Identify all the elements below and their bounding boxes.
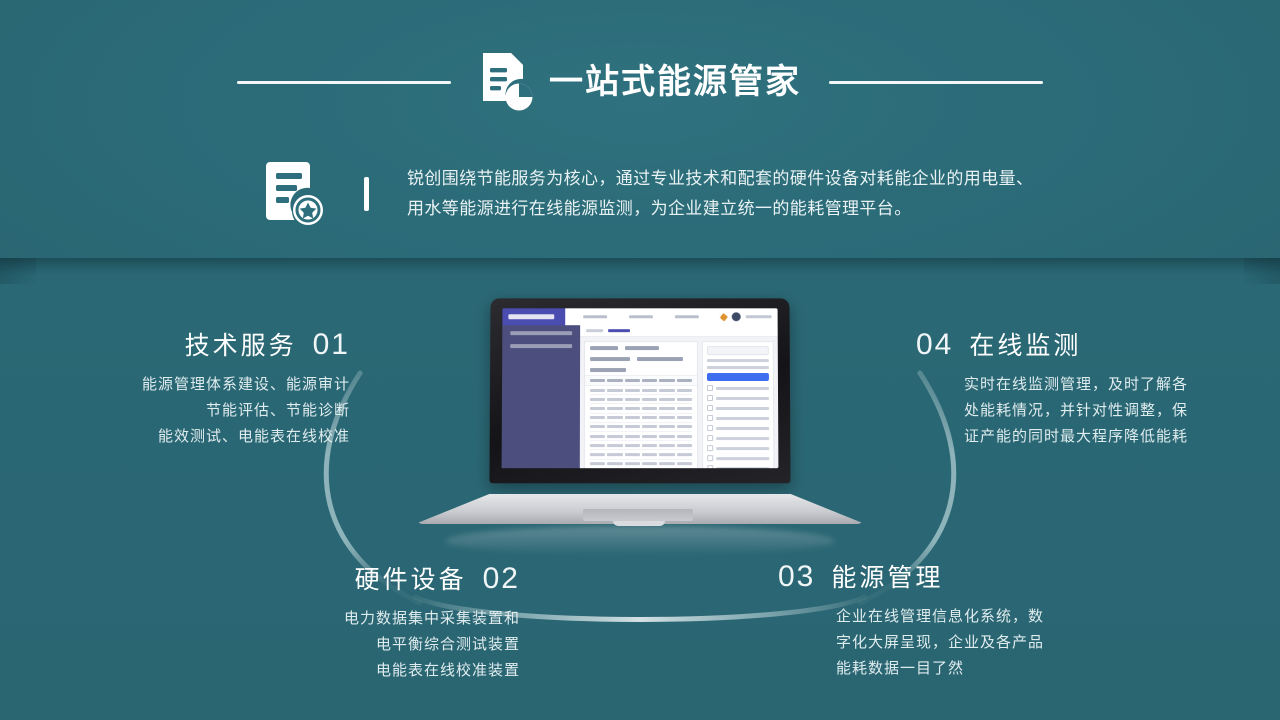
table-row[interactable] [590, 441, 692, 450]
feature-02-line-2: 电平衡综合测试装置 [180, 632, 520, 658]
feature-02-line-1: 电力数据集中采集装置和 [180, 606, 520, 632]
dashboard-username [746, 315, 772, 318]
feature-04-number: 04 [916, 328, 953, 362]
breadcrumb [580, 325, 778, 337]
feature-03-line-3: 能耗数据一目了然 [836, 656, 1118, 682]
table-column-header [642, 379, 657, 382]
slide-root: 一站式能源管家 锐创围绕节能服务为核心，通过专业技术和配套的硬件设备对耗能企业的… [0, 0, 1280, 720]
table-column-header [659, 379, 674, 382]
checkbox-item[interactable] [707, 465, 769, 468]
avatar[interactable] [732, 312, 741, 321]
dashboard-content [580, 337, 779, 468]
intro-line-2: 用水等能源进行在线能源监测，为企业建立统一的能耗管理平台。 [407, 194, 1033, 224]
dashboard-logo [502, 308, 565, 325]
table-header-row [585, 376, 697, 386]
panel-submit-button[interactable] [707, 373, 769, 381]
feature-01-heading: 技术服务 01 [10, 326, 350, 362]
checkbox-item[interactable] [707, 435, 769, 441]
feature-03-line-1: 企业在线管理信息化系统，数 [836, 604, 1118, 630]
feature-block-04: 04 在线监测 实时在线监测管理，及时了解各 处能耗情况，并针对性调整，保 证产… [916, 326, 1266, 449]
filter-field[interactable] [625, 346, 659, 350]
panel-field[interactable] [707, 359, 769, 362]
feature-01-lines: 能源管理体系建设、能源审计 节能评估、节能诊断 能效测试、电能表在线校准 [10, 372, 350, 449]
sidebar-item[interactable] [510, 344, 572, 348]
checkbox-item[interactable] [707, 455, 769, 461]
checkbox-item[interactable] [707, 395, 769, 401]
laptop-mockup [415, 298, 865, 538]
search-input[interactable] [707, 346, 769, 355]
intro-separator [364, 177, 369, 211]
feature-01-line-1: 能源管理体系建设、能源审计 [10, 372, 350, 398]
breadcrumb-item[interactable] [586, 329, 603, 332]
edit-icon[interactable] [720, 313, 728, 321]
divider-line-left-icon [237, 81, 451, 84]
document-chart-icon [479, 51, 533, 113]
dashboard-topnav [565, 308, 777, 325]
filter-field[interactable] [590, 346, 618, 350]
feature-01-number: 01 [313, 328, 350, 362]
checkbox-item[interactable] [707, 445, 769, 451]
checkbox-item[interactable] [707, 385, 769, 391]
sidebar-item[interactable] [510, 331, 572, 335]
filter-field[interactable] [637, 357, 683, 361]
feature-03-name: 能源管理 [831, 558, 943, 594]
dashboard-sidebar [502, 325, 581, 468]
laptop-screen [502, 308, 779, 468]
feature-02-lines: 电力数据集中采集装置和 电平衡综合测试装置 电能表在线校准装置 [180, 606, 520, 683]
table-column-header [590, 379, 605, 382]
divider-line-right-icon [829, 81, 1043, 84]
checkbox-item[interactable] [707, 405, 769, 411]
feature-block-01: 技术服务 01 能源管理体系建设、能源审计 节能评估、节能诊断 能效测试、电能表… [10, 326, 350, 449]
dashboard-topbar [502, 308, 777, 325]
intro-row: 锐创围绕节能服务为核心，通过专业技术和配套的硬件设备对耗能企业的用电量、 用水等… [264, 160, 1214, 228]
page-title: 一站式能源管家 [549, 65, 801, 99]
feature-03-line-2: 字化大屏呈现，企业及各产品 [836, 630, 1118, 656]
feature-04-heading: 04 在线监测 [916, 326, 1266, 362]
document-star-icon [264, 160, 326, 228]
feature-04-line-2: 处能耗情况，并针对性调整，保 [964, 398, 1266, 424]
header-band-corner-left [0, 258, 36, 284]
header-band-corner-right [1244, 258, 1280, 284]
table-row[interactable] [590, 460, 692, 469]
title-row: 一站式能源管家 [0, 46, 1280, 118]
table-column-header [677, 379, 692, 382]
intro-line-1: 锐创围绕节能服务为核心，通过专业技术和配套的硬件设备对耗能企业的用电量、 [407, 164, 1033, 194]
table-column-header [607, 379, 622, 382]
dashboard-nav-item[interactable] [675, 315, 699, 318]
filter-field[interactable] [590, 368, 626, 372]
dashboard-main [580, 325, 779, 468]
feature-03-number: 03 [778, 560, 815, 594]
table-row[interactable] [590, 386, 692, 395]
intro-text: 锐创围绕节能服务为核心，通过专业技术和配套的硬件设备对耗能企业的用电量、 用水等… [407, 164, 1033, 224]
table-row[interactable] [590, 404, 692, 413]
side-panel [702, 341, 775, 468]
laptop-trackpad [583, 509, 693, 521]
checkbox-item[interactable] [707, 415, 769, 421]
feature-03-lines: 企业在线管理信息化系统，数 字化大屏呈现，企业及各产品 能耗数据一目了然 [836, 604, 1118, 681]
checkbox-item[interactable] [707, 425, 769, 431]
feature-block-02: 硬件设备 02 电力数据集中采集装置和 电平衡综合测试装置 电能表在线校准装置 [180, 560, 520, 683]
dashboard-mock [502, 308, 779, 468]
panel-field[interactable] [707, 366, 769, 369]
table-row[interactable] [590, 414, 692, 423]
feature-03-heading: 03 能源管理 [778, 558, 1118, 594]
header-band-shadow [0, 258, 1280, 276]
dashboard-nav-item[interactable] [583, 315, 607, 318]
feature-02-line-3: 电能表在线校准装置 [180, 658, 520, 684]
dashboard-nav-item[interactable] [629, 315, 653, 318]
feature-02-heading: 硬件设备 02 [180, 560, 520, 596]
feature-block-03: 03 能源管理 企业在线管理信息化系统，数 字化大屏呈现，企业及各产品 能耗数据… [778, 558, 1118, 681]
table-row[interactable] [590, 450, 692, 459]
table-row[interactable] [590, 432, 692, 441]
table-filters [585, 342, 697, 376]
feature-04-line-3: 证产能的同时最大程序降低能耗 [964, 424, 1266, 450]
laptop-lid [489, 298, 790, 483]
laptop-reflection [445, 526, 835, 556]
feature-02-number: 02 [483, 562, 520, 596]
feature-01-line-2: 节能评估、节能诊断 [10, 398, 350, 424]
feature-04-lines: 实时在线监测管理，及时了解各 处能耗情况，并针对性调整，保 证产能的同时最大程序… [964, 372, 1266, 449]
table-column-header [625, 379, 640, 382]
feature-04-line-1: 实时在线监测管理，及时了解各 [964, 372, 1266, 398]
table-rows [585, 386, 698, 468]
table-row[interactable] [590, 423, 692, 432]
breadcrumb-current [608, 329, 630, 332]
feature-02-name: 硬件设备 [355, 560, 467, 596]
table-row[interactable] [590, 395, 692, 404]
feature-01-name: 技术服务 [185, 326, 297, 362]
dashboard-user-area [721, 312, 778, 321]
feature-04-name: 在线监测 [969, 326, 1081, 362]
data-table-card [584, 341, 699, 468]
feature-01-line-3: 能效测试、电能表在线校准 [10, 424, 350, 450]
dashboard-body [502, 325, 779, 468]
filter-field[interactable] [590, 357, 630, 361]
